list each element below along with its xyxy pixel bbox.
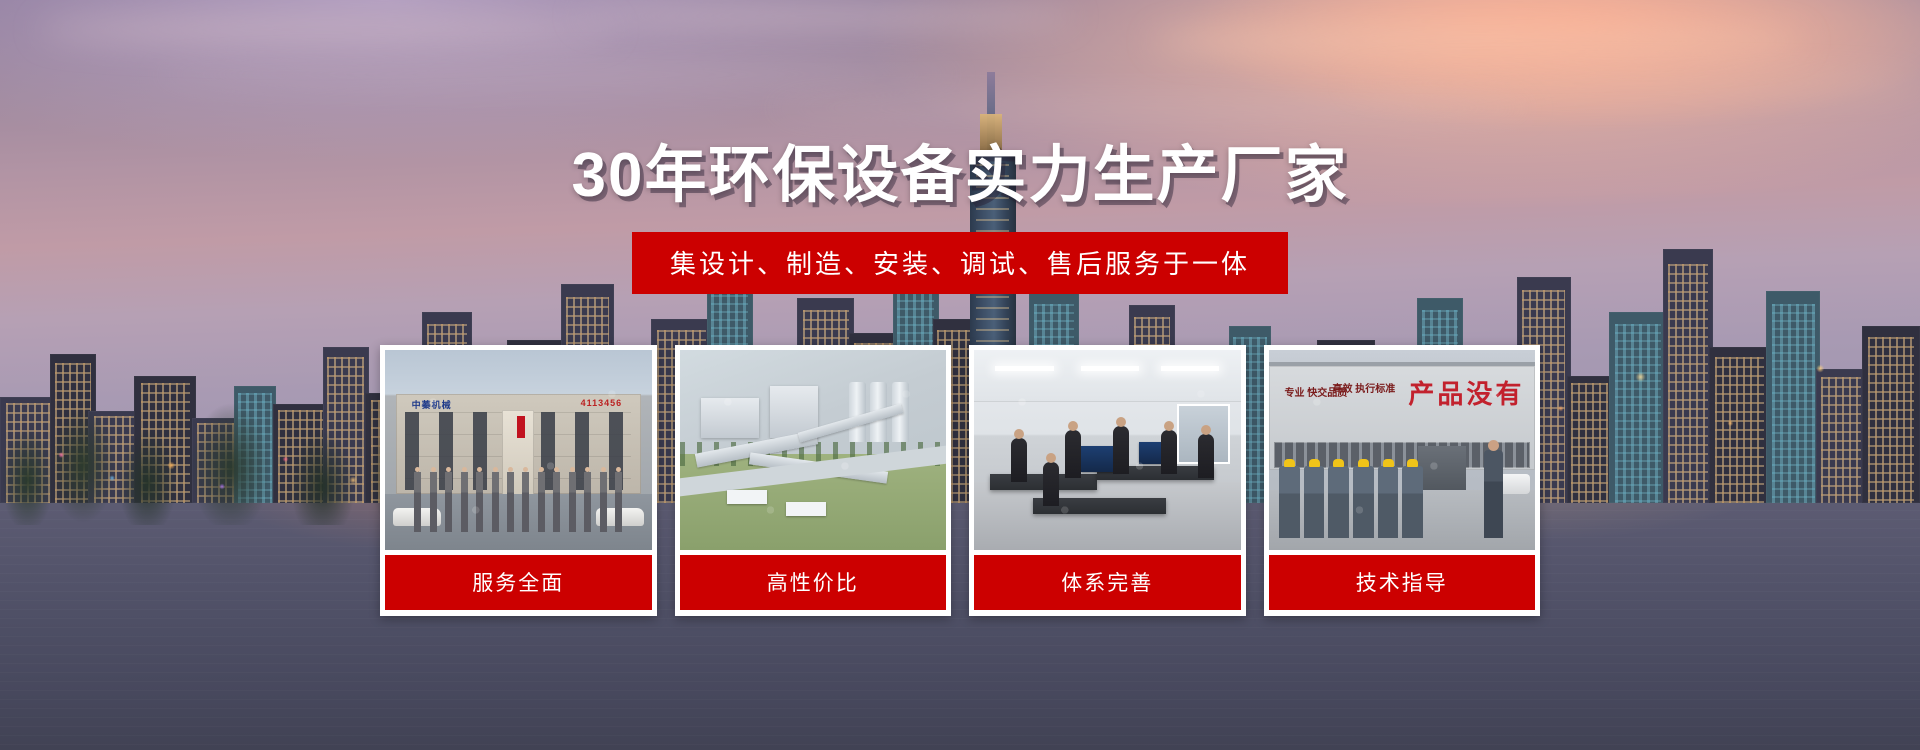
ceiling-light (995, 366, 1054, 371)
ceiling-light (1161, 366, 1220, 371)
feature-card[interactable]: 专业 快交品质 高效 执行标准 产品没有 技术指导 (1264, 345, 1541, 616)
storage-silo (849, 382, 866, 442)
cloud (576, 5, 1075, 28)
subtitle-container: 集设计、制造、安装、调试、售后服务于一体 (0, 232, 1920, 294)
cloud (1344, 72, 1920, 95)
subtitle-badge: 集设计、制造、安装、调试、售后服务于一体 (632, 232, 1288, 294)
floor (974, 482, 1241, 550)
hero-banner: 30年环保设备实力生产厂家 集设计、制造、安装、调试、售后服务于一体 中蓁机械 … (0, 0, 1920, 750)
person (1065, 430, 1081, 478)
ceiling (974, 350, 1241, 402)
card-caption: 高性价比 (680, 555, 947, 610)
flag (517, 416, 525, 438)
feature-card-list: 中蓁机械 4113456 服务全面 (380, 345, 1540, 616)
truck (786, 502, 826, 516)
page-title: 30年环保设备实力生产厂家 (0, 124, 1920, 214)
plant-building (701, 398, 760, 438)
factory-workers-photo: 专业 快交品质 高效 执行标准 产品没有 (1269, 350, 1536, 550)
cloud (1152, 23, 1805, 59)
card-caption: 服务全面 (385, 555, 652, 610)
person (1113, 426, 1129, 474)
feature-card[interactable]: 高性价比 (675, 345, 952, 616)
card-caption: 体系完善 (974, 555, 1241, 610)
decorative-tree-lights (19, 413, 441, 518)
company-sign-text: 中蓁机械 (412, 398, 452, 411)
wall-slogan-text: 高效 执行标准 (1332, 382, 1395, 397)
person (1043, 462, 1059, 506)
office-building-staff-photo: 中蓁机械 4113456 (385, 350, 652, 550)
aerial-plant-facility-photo (680, 350, 947, 550)
ceiling-light (1081, 366, 1140, 371)
cloud (38, 14, 614, 46)
person (1011, 438, 1027, 482)
supervisor (1484, 450, 1503, 538)
cloud (154, 63, 960, 86)
truck (727, 490, 767, 504)
worker-lineup (1279, 454, 1423, 538)
person (1161, 430, 1177, 474)
wall-headline-text: 产品没有 (1408, 374, 1524, 411)
cloud (768, 99, 1536, 117)
staff-lineup (414, 472, 622, 532)
phone-number-text: 4113456 (581, 398, 623, 408)
person (1198, 434, 1214, 478)
feature-card[interactable]: 中蓁机械 4113456 服务全面 (380, 345, 657, 616)
feature-card[interactable]: 体系完善 (969, 345, 1246, 616)
office-interior-team-photo (974, 350, 1241, 550)
card-caption: 技术指导 (1269, 555, 1536, 610)
